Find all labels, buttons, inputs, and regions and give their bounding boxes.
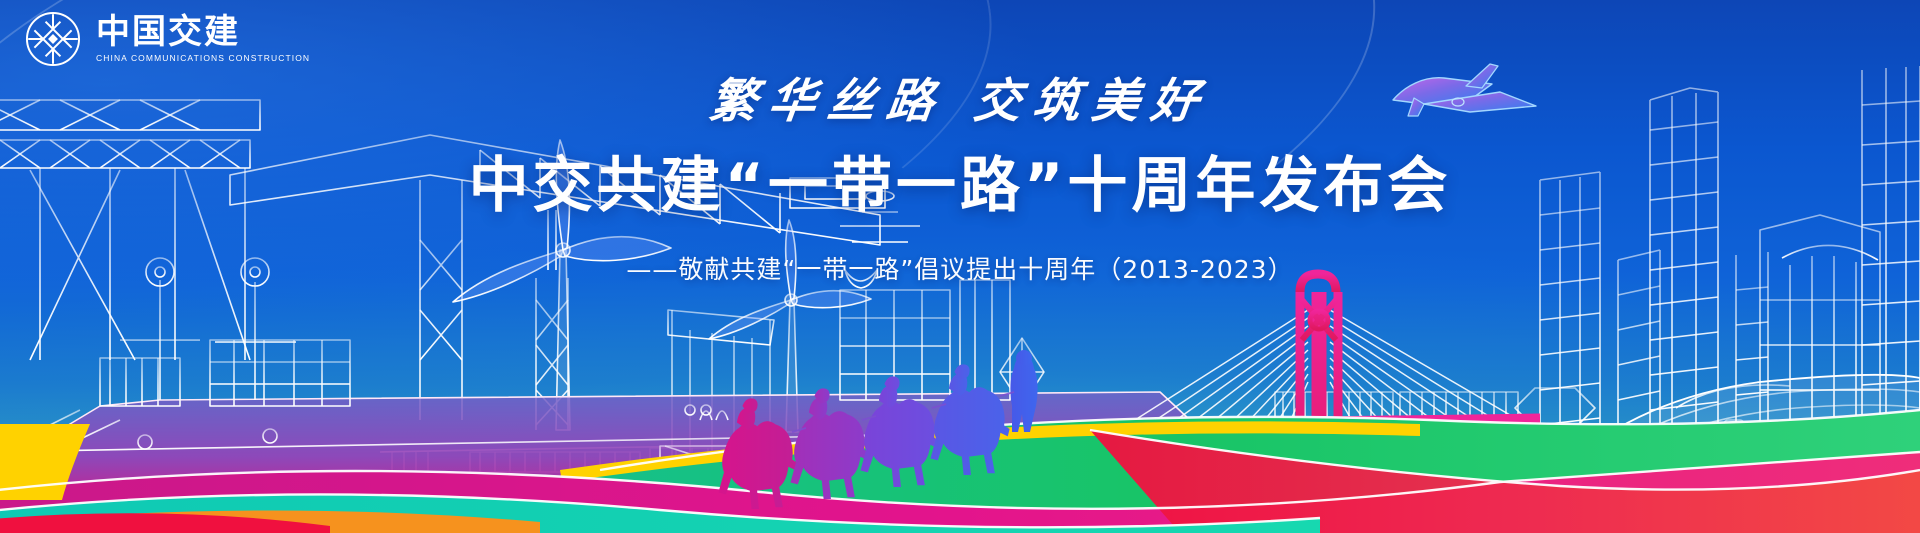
caravan-leader	[1010, 350, 1037, 432]
logo-wordmark: 中国交建 CHINA COMMUNICATIONS CONSTRUCTION	[96, 15, 310, 64]
event-banner: 中国交建 CHINA COMMUNICATIONS CONSTRUCTION 繁…	[0, 0, 1920, 533]
logo-english-name: CHINA COMMUNICATIONS CONSTRUCTION	[96, 53, 310, 63]
camel-1	[718, 398, 797, 509]
camel-4	[930, 364, 1009, 475]
camel-3	[860, 376, 939, 487]
china-communications-construction-emblem	[22, 8, 84, 70]
company-logo[interactable]: 中国交建 CHINA COMMUNICATIONS CONSTRUCTION	[22, 8, 310, 70]
camel-2	[790, 388, 869, 499]
logo-chinese-name: 中国交建	[96, 15, 310, 51]
camel-caravan	[0, 0, 1920, 533]
